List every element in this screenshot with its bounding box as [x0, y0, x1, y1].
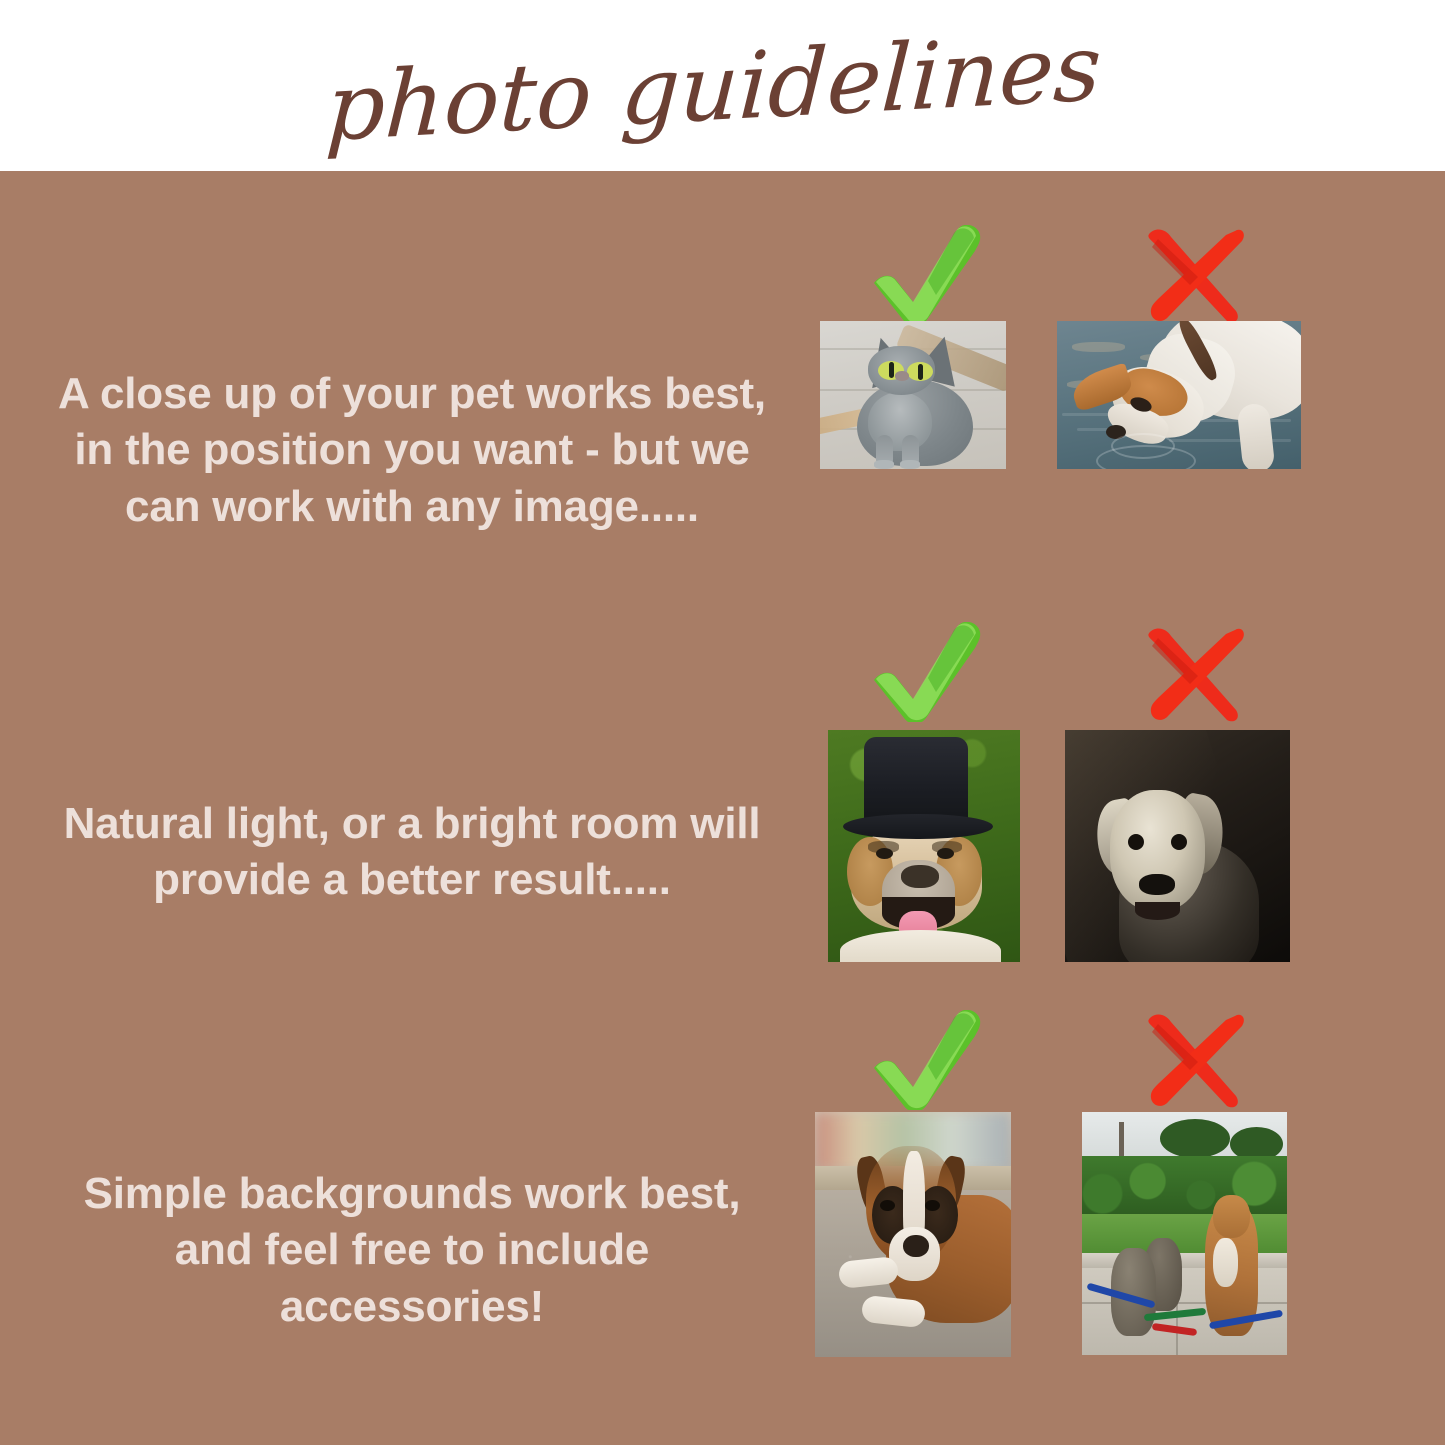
- page-title-text: photo guidelines: [323, 13, 1103, 161]
- guideline-text-1: A close up of your pet works best, in th…: [42, 366, 782, 535]
- cross-mark-icon: [1138, 225, 1248, 325]
- header-band: photo guidelines: [0, 0, 1445, 171]
- guideline-row-1: A close up of your pet works best, in th…: [0, 200, 1445, 620]
- guideline-row-3: Simple backgrounds work best, and feel f…: [0, 1002, 1445, 1402]
- photo-bad-2: [1065, 730, 1290, 962]
- photo-bad-3: [1082, 1112, 1287, 1355]
- photo-bad-1: [1057, 321, 1301, 469]
- page-title: photo guidelines: [293, 11, 1153, 161]
- photo-guidelines-page: photo guidelines A close up of your pet …: [0, 0, 1445, 1445]
- check-mark-icon: [866, 1010, 986, 1110]
- guideline-text-2: Natural light, or a bright room will pro…: [42, 796, 782, 909]
- guideline-text-3: Simple backgrounds work best, and feel f…: [42, 1166, 782, 1335]
- photo-good-2: [828, 730, 1020, 962]
- cross-mark-icon: [1138, 624, 1248, 724]
- photo-good-1: [820, 321, 1006, 469]
- cross-mark-icon: [1138, 1010, 1248, 1110]
- guideline-row-2: Natural light, or a bright room will pro…: [0, 612, 1445, 1002]
- check-mark-icon: [866, 225, 986, 325]
- check-mark-icon: [866, 622, 986, 722]
- photo-good-3: [815, 1112, 1011, 1357]
